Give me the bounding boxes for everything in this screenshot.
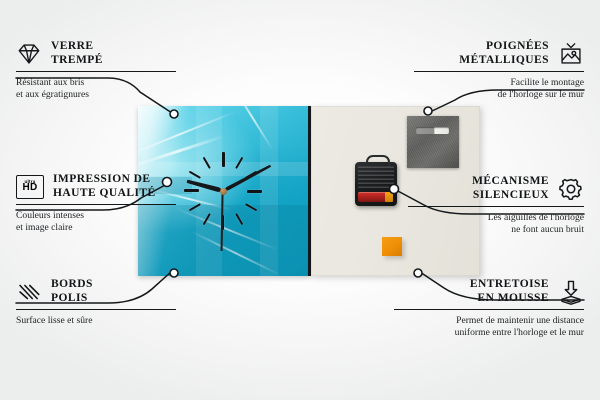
movement-label-print: [358, 166, 394, 188]
callout-rule: [408, 206, 584, 207]
callout-title: MÉCANISME: [472, 175, 549, 189]
callout-entretoise-en-mousse[interactable]: ENTRETOISE EN MOUSSE Permet de maintenir…: [394, 278, 584, 339]
callout-rule: [16, 204, 176, 205]
callout-rule: [16, 309, 176, 310]
callout-mecanisme-silencieux[interactable]: MÉCANISME SILENCIEUX Les aiguilles de l'…: [408, 175, 584, 236]
quartz-movement: [355, 162, 397, 206]
callout-sub-2: et image claire: [16, 222, 176, 234]
callout-title-2: MÉTALLIQUES: [459, 54, 549, 68]
callout-title: IMPRESSION DE: [53, 173, 156, 187]
callout-sub-2: uniforme entre l'horloge et le mur: [394, 327, 584, 339]
battery-terminal-icon: [385, 192, 393, 202]
callout-rule: [414, 71, 584, 72]
callout-sub-2: et aux égratignures: [16, 89, 176, 101]
callout-impression-haute-qualite[interactable]: ultra HD IMPRESSION DE HAUTE QUALITÉ Cou…: [16, 173, 176, 234]
callout-sub: Les aiguilles de l'horloge: [408, 212, 584, 224]
callout-sub: Surface lisse et sûre: [16, 315, 176, 327]
foam-spacer: [382, 237, 402, 256]
callout-sub: Permet de maintenir une distance: [394, 315, 584, 327]
callout-sub: Couleurs intenses: [16, 210, 176, 222]
callout-title: ENTRETOISE: [470, 278, 549, 292]
diamond-icon: [16, 41, 42, 67]
callout-sub: Facilite le montage: [414, 77, 584, 89]
callout-rule: [16, 71, 176, 72]
ultra-hd-icon-bottom: HD: [22, 183, 37, 193]
callout-title: VERRE: [51, 40, 103, 54]
callout-title-2: EN MOUSSE: [470, 292, 549, 306]
foam-spacer-icon: [558, 279, 584, 305]
callout-sub: Résistant aux bris: [16, 77, 176, 89]
callout-title-2: POLIS: [51, 292, 93, 306]
callout-title: BORDS: [51, 278, 93, 292]
polished-edge-icon: [16, 279, 42, 305]
callout-title-2: SILENCIEUX: [472, 189, 549, 203]
callout-poignees-metalliques[interactable]: POIGNÉES MÉTALLIQUES Facilite le montage…: [414, 40, 584, 101]
wall-mount-frame-icon: [558, 41, 584, 67]
callout-bords-polis[interactable]: BORDS POLIS Surface lisse et sûre: [16, 278, 176, 327]
gear-icon: [558, 176, 584, 202]
metal-hanger-plate: [407, 116, 459, 168]
callout-rule: [394, 309, 584, 310]
hanger-keyhole-slot: [416, 127, 449, 134]
callout-title: POIGNÉES: [459, 40, 549, 54]
hand-cap: [220, 188, 227, 195]
callout-sub-2: ne font aucun bruit: [408, 224, 584, 236]
callout-verre-trempe[interactable]: VERRE TREMPÉ Résistant aux bris et aux é…: [16, 40, 176, 101]
infographic-canvas: VERRE TREMPÉ Résistant aux bris et aux é…: [0, 0, 600, 400]
callout-title-2: TREMPÉ: [51, 54, 103, 68]
callout-sub-2: de l'horloge sur le mur: [414, 89, 584, 101]
battery: [358, 192, 388, 202]
ultra-hd-icon: ultra HD: [16, 175, 44, 199]
callout-title-2: HAUTE QUALITÉ: [53, 187, 156, 201]
